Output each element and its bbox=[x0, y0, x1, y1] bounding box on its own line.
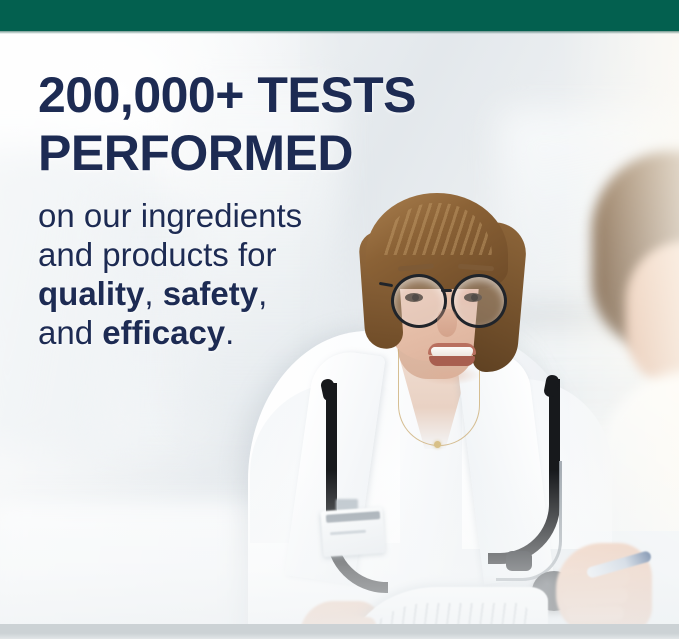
subcopy-sep-a: , bbox=[144, 275, 162, 312]
top-accent-bar-shadow bbox=[0, 31, 679, 34]
subcopy-bold-quality: quality bbox=[38, 275, 144, 312]
top-accent-bar bbox=[0, 0, 679, 31]
headline-line-1: 200,000+ TESTS bbox=[38, 66, 458, 124]
subcopy-bold-safety: safety bbox=[163, 275, 258, 312]
copy-block: 200,000+ TESTS PERFORMED on our ingredie… bbox=[38, 66, 458, 352]
promotional-banner: 200,000+ TESTS PERFORMED on our ingredie… bbox=[0, 0, 679, 639]
subcopy-line-4: and efficacy. bbox=[38, 313, 458, 352]
doctor-necklace-pendant bbox=[434, 441, 441, 448]
subcopy-plain-and: and bbox=[38, 314, 102, 351]
subcopy-bold-efficacy: efficacy bbox=[102, 314, 225, 351]
subcopy-period: . bbox=[225, 314, 234, 351]
subcopy-line-1: on our ingredients bbox=[38, 196, 458, 235]
headline-line-2: PERFORMED bbox=[38, 124, 458, 182]
doctor-finger-ring-right bbox=[566, 605, 624, 621]
doctor-chin bbox=[418, 365, 480, 385]
stethoscope-stem bbox=[506, 551, 532, 571]
stethoscope-tube-left bbox=[326, 383, 388, 593]
eyeglasses-lens-right bbox=[451, 274, 507, 328]
headline: 200,000+ TESTS PERFORMED bbox=[38, 66, 458, 182]
subcopy-line-2: and products for bbox=[38, 235, 458, 274]
subcopy-line-3: quality, safety, bbox=[38, 274, 458, 313]
subcopy: on our ingredients and products for qual… bbox=[38, 196, 458, 352]
bottom-band bbox=[0, 624, 679, 639]
subcopy-sep-b: , bbox=[258, 275, 267, 312]
